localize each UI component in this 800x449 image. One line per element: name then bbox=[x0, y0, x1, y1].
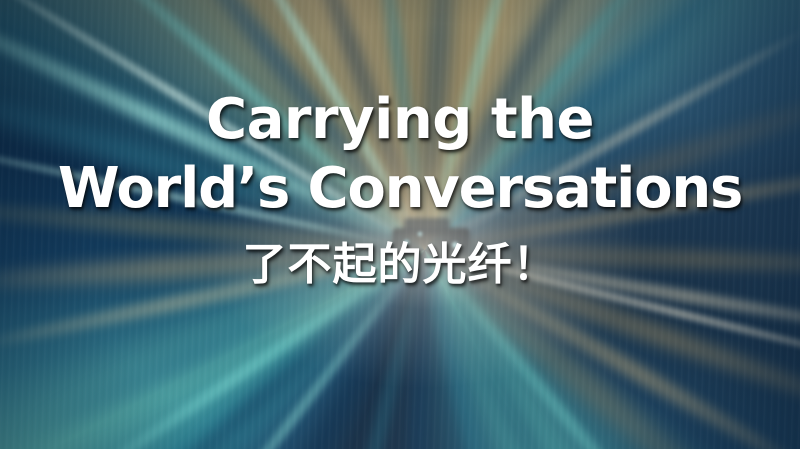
title-slide: Carrying the World’s Conversations 了不起的光… bbox=[0, 0, 800, 449]
subtitle-chinese: 了不起的光纤！ bbox=[243, 243, 558, 287]
headline-line-1: Carrying the bbox=[206, 92, 594, 148]
title-text-block: Carrying the World’s Conversations 了不起的光… bbox=[0, 0, 800, 449]
headline-line-2: World’s Conversations bbox=[58, 161, 742, 217]
